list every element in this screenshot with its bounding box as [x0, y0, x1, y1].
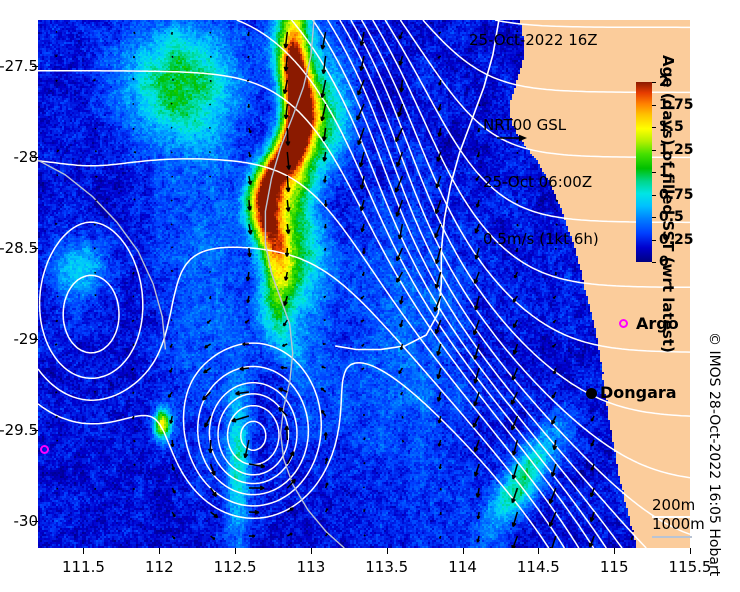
- current-vector-arrow: [326, 509, 328, 513]
- current-vector-arrow: [324, 176, 326, 182]
- current-vector-arrow: [284, 296, 287, 306]
- current-vector-arrow: [363, 248, 365, 254]
- current-vector-arrow: [96, 151, 97, 152]
- current-vector-arrow: [322, 366, 326, 368]
- current-vector-arrow: [435, 224, 441, 238]
- current-vector-arrow: [210, 32, 211, 33]
- current-vector-arrow: [402, 440, 403, 442]
- current-vector-arrow: [552, 392, 556, 398]
- current-vector-arrow: [438, 56, 441, 58]
- current-vector-arrow: [439, 32, 441, 34]
- current-vector-arrow: [324, 296, 326, 298]
- current-vector-arrow: [133, 272, 134, 274]
- current-vector-arrow: [210, 296, 211, 299]
- current-vector-arrow: [172, 512, 175, 517]
- colorbar-tick-mark: [652, 172, 656, 173]
- current-vector-arrow: [362, 368, 364, 370]
- current-vector-arrow: [396, 128, 403, 142]
- current-vector-arrow: [170, 368, 172, 372]
- dongara-dot-icon[interactable]: [586, 388, 597, 399]
- current-vector-arrow: [55, 224, 57, 225]
- current-vector-arrow: [287, 533, 292, 536]
- colorbar-tick-mark: [652, 217, 656, 218]
- current-vector-arrow: [248, 104, 249, 108]
- x-tick-mark: [235, 548, 236, 554]
- x-tick-mark: [614, 548, 615, 554]
- current-vector-arrow: [211, 56, 212, 57]
- current-vector-arrow: [249, 152, 251, 157]
- current-vector-arrow: [326, 534, 328, 536]
- current-vector-arrow: [170, 416, 173, 424]
- current-vector-arrow: [286, 248, 289, 257]
- current-vector-arrow: [479, 104, 480, 106]
- current-vector-arrow: [475, 248, 479, 259]
- current-vector-arrow: [550, 512, 556, 526]
- current-vector-arrow: [552, 464, 556, 477]
- dongara-label: Dongara: [600, 383, 677, 402]
- current-vector-arrow: [172, 270, 173, 272]
- current-vector-arrow: [56, 320, 57, 322]
- current-vector-arrow: [363, 272, 364, 276]
- current-vector-arrow: [364, 463, 365, 465]
- current-vector-arrow: [323, 128, 327, 141]
- current-vector-arrow: [172, 80, 173, 81]
- current-vector-arrow: [357, 104, 364, 120]
- current-vector-arrow: [56, 392, 58, 393]
- current-vector-arrow: [325, 458, 327, 464]
- current-vector-arrow: [321, 388, 326, 392]
- current-vector-arrow: [171, 440, 174, 447]
- right-arrow-icon: [497, 133, 527, 143]
- current-vector-arrow: [132, 368, 134, 370]
- y-tick-label: -27.5: [0, 57, 38, 75]
- current-vector-arrow: [437, 368, 440, 379]
- current-vector-arrow: [172, 536, 175, 539]
- current-vector-arrow: [399, 56, 402, 65]
- current-vector-arrow: [324, 320, 326, 321]
- current-vector-arrow: [203, 392, 211, 400]
- x-tick-mark: [690, 548, 691, 554]
- y-tick-label: -29: [14, 330, 39, 348]
- model-info-block: NRT00 GSL 25-Oct 06:00Z 0.5m/s (1kt 6h): [483, 78, 599, 287]
- current-vector-arrow: [439, 440, 441, 446]
- x-tick-mark: [311, 548, 312, 554]
- current-vector-arrow: [553, 320, 555, 323]
- date-stamp: 25-Oct-2022 16Z: [469, 31, 598, 49]
- current-vector-arrow: [400, 80, 404, 92]
- current-vector-arrow: [211, 464, 215, 475]
- current-vector-arrow: [437, 344, 441, 356]
- current-vector-arrow: [325, 248, 326, 251]
- current-vector-arrow: [209, 128, 210, 129]
- current-vector-arrow: [513, 464, 518, 479]
- current-vector-arrow: [248, 200, 252, 210]
- current-vector-arrow: [284, 80, 288, 94]
- x-tick-mark: [387, 548, 388, 554]
- current-vector-arrow: [478, 128, 479, 132]
- current-vector-arrow: [94, 224, 95, 225]
- current-vector-arrow: [134, 32, 135, 34]
- current-vector-arrow: [96, 176, 98, 177]
- colorbar-gradient: [636, 82, 652, 262]
- argo-float-position-icon[interactable]: [40, 445, 49, 454]
- current-vector-arrow: [284, 104, 288, 119]
- current-vector-arrow: [133, 392, 134, 394]
- current-vector-arrow: [400, 320, 403, 327]
- current-vector-arrow: [133, 128, 134, 129]
- current-vector-arrow: [552, 416, 556, 424]
- current-vector-arrow: [205, 344, 211, 348]
- current-vector-arrow: [171, 200, 172, 201]
- isobath-legend: 200m 1000m: [652, 496, 705, 534]
- current-vector-arrow: [284, 320, 288, 326]
- current-vector-arrow: [364, 438, 365, 440]
- current-vector-arrow: [513, 296, 517, 302]
- current-vector-arrow: [364, 414, 365, 416]
- current-vector-arrow: [283, 344, 288, 346]
- current-vector-arrow: [512, 536, 517, 548]
- current-vector-arrow: [591, 440, 594, 446]
- current-vector-arrow: [513, 512, 518, 527]
- current-vector-arrow: [134, 488, 135, 490]
- current-vector-arrow: [245, 320, 249, 323]
- current-vector-arrow: [324, 433, 327, 441]
- current-vector-arrow: [364, 510, 365, 513]
- current-vector-arrow: [96, 200, 97, 201]
- streamfunction-contour-line: [495, 20, 690, 27]
- current-vector-arrow: [398, 104, 402, 117]
- current-vector-arrow: [286, 224, 290, 234]
- current-vector-arrow: [323, 344, 326, 345]
- current-vector-arrow: [322, 410, 326, 416]
- current-vector-arrow: [440, 536, 441, 539]
- current-vector-arrow: [132, 320, 134, 322]
- current-vector-arrow: [249, 464, 265, 468]
- colorbar[interactable]: 00.250.50.7511.251.51.752: [636, 82, 652, 262]
- current-vector-arrow: [55, 344, 57, 345]
- current-vector-arrow: [439, 464, 441, 469]
- current-vector-arrow: [210, 80, 211, 82]
- current-vector-arrow: [554, 296, 556, 298]
- credit-text: © IMOS 28-Oct-2022 16:05 Hobart: [706, 332, 722, 576]
- current-vector-arrow: [360, 152, 364, 167]
- current-vector-arrow: [440, 512, 441, 515]
- y-tick-label: -28.5: [0, 239, 38, 257]
- current-vector-arrow: [279, 388, 288, 392]
- current-vector-arrow: [475, 464, 479, 476]
- current-vector-arrow: [248, 56, 249, 58]
- current-vector-arrow: [134, 464, 135, 465]
- current-vector-arrow: [514, 344, 518, 354]
- current-vector-arrow: [400, 296, 403, 304]
- current-vector-arrow: [172, 56, 173, 58]
- colorbar-tick-mark: [652, 262, 656, 263]
- current-vector-arrow: [286, 200, 290, 212]
- current-vector-arrow: [553, 344, 556, 347]
- current-vector-arrow: [361, 296, 364, 299]
- x-tick-mark: [159, 548, 160, 554]
- current-vector-arrow: [361, 200, 365, 211]
- current-vector-arrow: [247, 272, 250, 281]
- current-vector-arrow: [362, 344, 364, 346]
- current-vector-arrow: [361, 224, 364, 232]
- current-vector-arrow: [232, 416, 249, 422]
- x-tick-mark: [463, 548, 464, 554]
- current-vector-arrow: [171, 152, 172, 153]
- argo-open-circle-icon[interactable]: [619, 319, 628, 328]
- current-vector-arrow: [514, 320, 518, 328]
- current-vector-arrow: [95, 391, 96, 392]
- current-vector-arrow: [326, 483, 328, 488]
- current-vector-arrow: [325, 200, 327, 207]
- current-vector-arrow: [287, 152, 291, 170]
- isobath-200m-label: 200m: [652, 496, 705, 515]
- current-vector-arrow: [281, 367, 288, 369]
- current-vector-arrow: [438, 392, 441, 401]
- current-vector-arrow: [364, 535, 365, 536]
- current-vector-arrow: [321, 104, 326, 121]
- current-vector-arrow: [133, 344, 134, 346]
- colorbar-tick-mark: [652, 127, 656, 128]
- current-vector-arrow: [476, 176, 479, 180]
- current-vector-arrow: [57, 150, 58, 152]
- current-vector-arrow: [361, 320, 364, 322]
- isobath-200m-line-sample: [652, 516, 692, 518]
- colorbar-tick-mark: [652, 82, 656, 83]
- current-vector-arrow: [207, 320, 210, 323]
- current-vector-arrow: [210, 176, 211, 177]
- current-vector-arrow: [475, 296, 479, 310]
- current-vector-arrow: [211, 488, 217, 496]
- current-vector-arrow: [248, 248, 251, 257]
- current-vector-arrow: [438, 104, 440, 111]
- current-vector-arrow: [248, 224, 252, 234]
- current-vector-arrow: [94, 80, 96, 81]
- x-tick-label: 115: [600, 558, 629, 576]
- current-vector-arrow: [477, 512, 480, 519]
- colorbar-title: Age (days) of filled SST (wrt latest): [659, 55, 677, 353]
- x-tick-mark: [538, 548, 539, 554]
- current-vector-arrow: [211, 512, 218, 518]
- current-vector-arrow: [56, 416, 57, 418]
- colorbar-tick-mark: [652, 240, 656, 241]
- current-vector-arrow: [438, 128, 441, 137]
- current-vector-arrow: [323, 152, 326, 161]
- current-vector-arrow: [171, 128, 172, 129]
- current-vector-arrow: [591, 512, 595, 522]
- current-vector-arrow: [172, 32, 173, 34]
- current-vector-arrow: [473, 416, 479, 427]
- current-vector-arrow: [477, 152, 479, 157]
- current-vector-arrow: [170, 344, 172, 348]
- current-vector-arrow: [631, 536, 632, 540]
- current-vector-arrow: [57, 175, 58, 176]
- isobath-contour-line: [265, 20, 344, 548]
- current-vector-arrow: [435, 272, 440, 288]
- current-vector-arrow: [171, 224, 172, 225]
- colorbar-tick-mark: [652, 195, 656, 196]
- x-tick-label: 114.5: [517, 558, 560, 576]
- x-tick-mark: [83, 548, 84, 554]
- current-vector-arrow: [475, 224, 479, 233]
- current-vector-arrow: [440, 488, 441, 490]
- current-vector-arrow: [512, 488, 517, 503]
- current-vector-arrow: [439, 80, 441, 85]
- model-timestamp: 25-Oct 06:00Z: [483, 173, 599, 192]
- current-vector-arrow: [94, 248, 95, 249]
- current-vector-arrow: [553, 440, 557, 450]
- current-vector-arrow: [249, 535, 255, 537]
- y-tick-label: -30: [14, 512, 39, 530]
- current-vector-arrow: [477, 536, 479, 542]
- current-vector-arrow: [286, 176, 290, 192]
- x-tick-label: 111.5: [62, 558, 105, 576]
- current-vector-arrow: [475, 440, 480, 452]
- y-tick-label: -29.5: [0, 421, 38, 439]
- current-vector-arrow: [402, 416, 403, 418]
- current-vector-arrow: [436, 248, 441, 264]
- current-vector-arrow: [134, 56, 135, 58]
- x-tick-label: 114: [448, 558, 477, 576]
- current-vector-arrow: [133, 296, 134, 297]
- current-vector-arrow: [513, 440, 518, 455]
- current-vector-arrow: [477, 200, 480, 207]
- current-vector-arrow: [249, 486, 264, 490]
- current-vector-arrow: [249, 128, 251, 133]
- colorbar-tick-mark: [652, 150, 656, 151]
- current-vector-arrow: [512, 368, 517, 380]
- current-vector-arrow: [474, 392, 479, 406]
- y-tick-label: -28: [14, 148, 39, 166]
- vector-scale-label: 0.5m/s (1kt 6h): [483, 230, 599, 249]
- current-vector-arrow: [95, 294, 96, 296]
- current-vector-arrow: [133, 78, 134, 80]
- current-vector-arrow: [134, 152, 136, 153]
- current-vector-arrow: [399, 32, 402, 39]
- current-vector-arrow: [172, 464, 174, 470]
- current-vector-arrow: [248, 176, 251, 185]
- current-vector-arrow: [211, 536, 215, 539]
- current-vector-arrow: [204, 368, 211, 373]
- current-vector-arrow: [56, 56, 58, 57]
- current-vector-arrow: [95, 488, 96, 490]
- current-vector-arrow: [592, 416, 595, 421]
- colorbar-tick-mark: [652, 105, 656, 106]
- current-vector-arrow: [401, 392, 402, 395]
- current-vector-arrow: [285, 272, 288, 280]
- current-vector-arrow: [169, 392, 173, 397]
- current-vector-arrow: [248, 32, 249, 36]
- x-tick-label: 115.5: [669, 558, 712, 576]
- current-vector-arrow: [210, 104, 211, 105]
- current-vector-arrow: [249, 511, 259, 515]
- current-vector-arrow: [321, 80, 326, 98]
- current-vector-arrow: [56, 80, 57, 81]
- current-vector-arrow: [550, 536, 555, 548]
- current-vector-arrow: [476, 488, 479, 497]
- current-vector-arrow: [247, 296, 249, 303]
- isobath-1000m-line-sample: [652, 536, 692, 538]
- current-vector-arrow: [474, 272, 479, 284]
- current-vector-arrow: [134, 199, 135, 200]
- current-vector-arrow: [134, 440, 135, 442]
- x-tick-label: 113.5: [365, 558, 408, 576]
- current-vector-arrow: [172, 488, 175, 493]
- current-vector-arrow: [399, 368, 402, 374]
- x-tick-label: 112: [145, 558, 174, 576]
- current-vector-arrow: [57, 488, 58, 489]
- x-tick-label: 112.5: [214, 558, 257, 576]
- current-vector-arrow: [287, 452, 293, 464]
- current-vector-arrow: [436, 200, 441, 214]
- current-vector-arrow: [322, 56, 326, 74]
- current-vector-arrow: [171, 103, 172, 104]
- current-vector-arrow: [57, 296, 58, 297]
- current-vector-arrow: [247, 80, 249, 81]
- figure-canvas: 25-Oct-2022 16Z NRT00 GSL 25-Oct 06:00Z …: [0, 0, 740, 592]
- current-vector-arrow: [284, 32, 288, 48]
- x-tick-label: 113: [297, 558, 326, 576]
- current-vector-arrow: [95, 272, 96, 273]
- current-vector-arrow: [325, 224, 327, 228]
- current-vector-arrow: [284, 56, 288, 71]
